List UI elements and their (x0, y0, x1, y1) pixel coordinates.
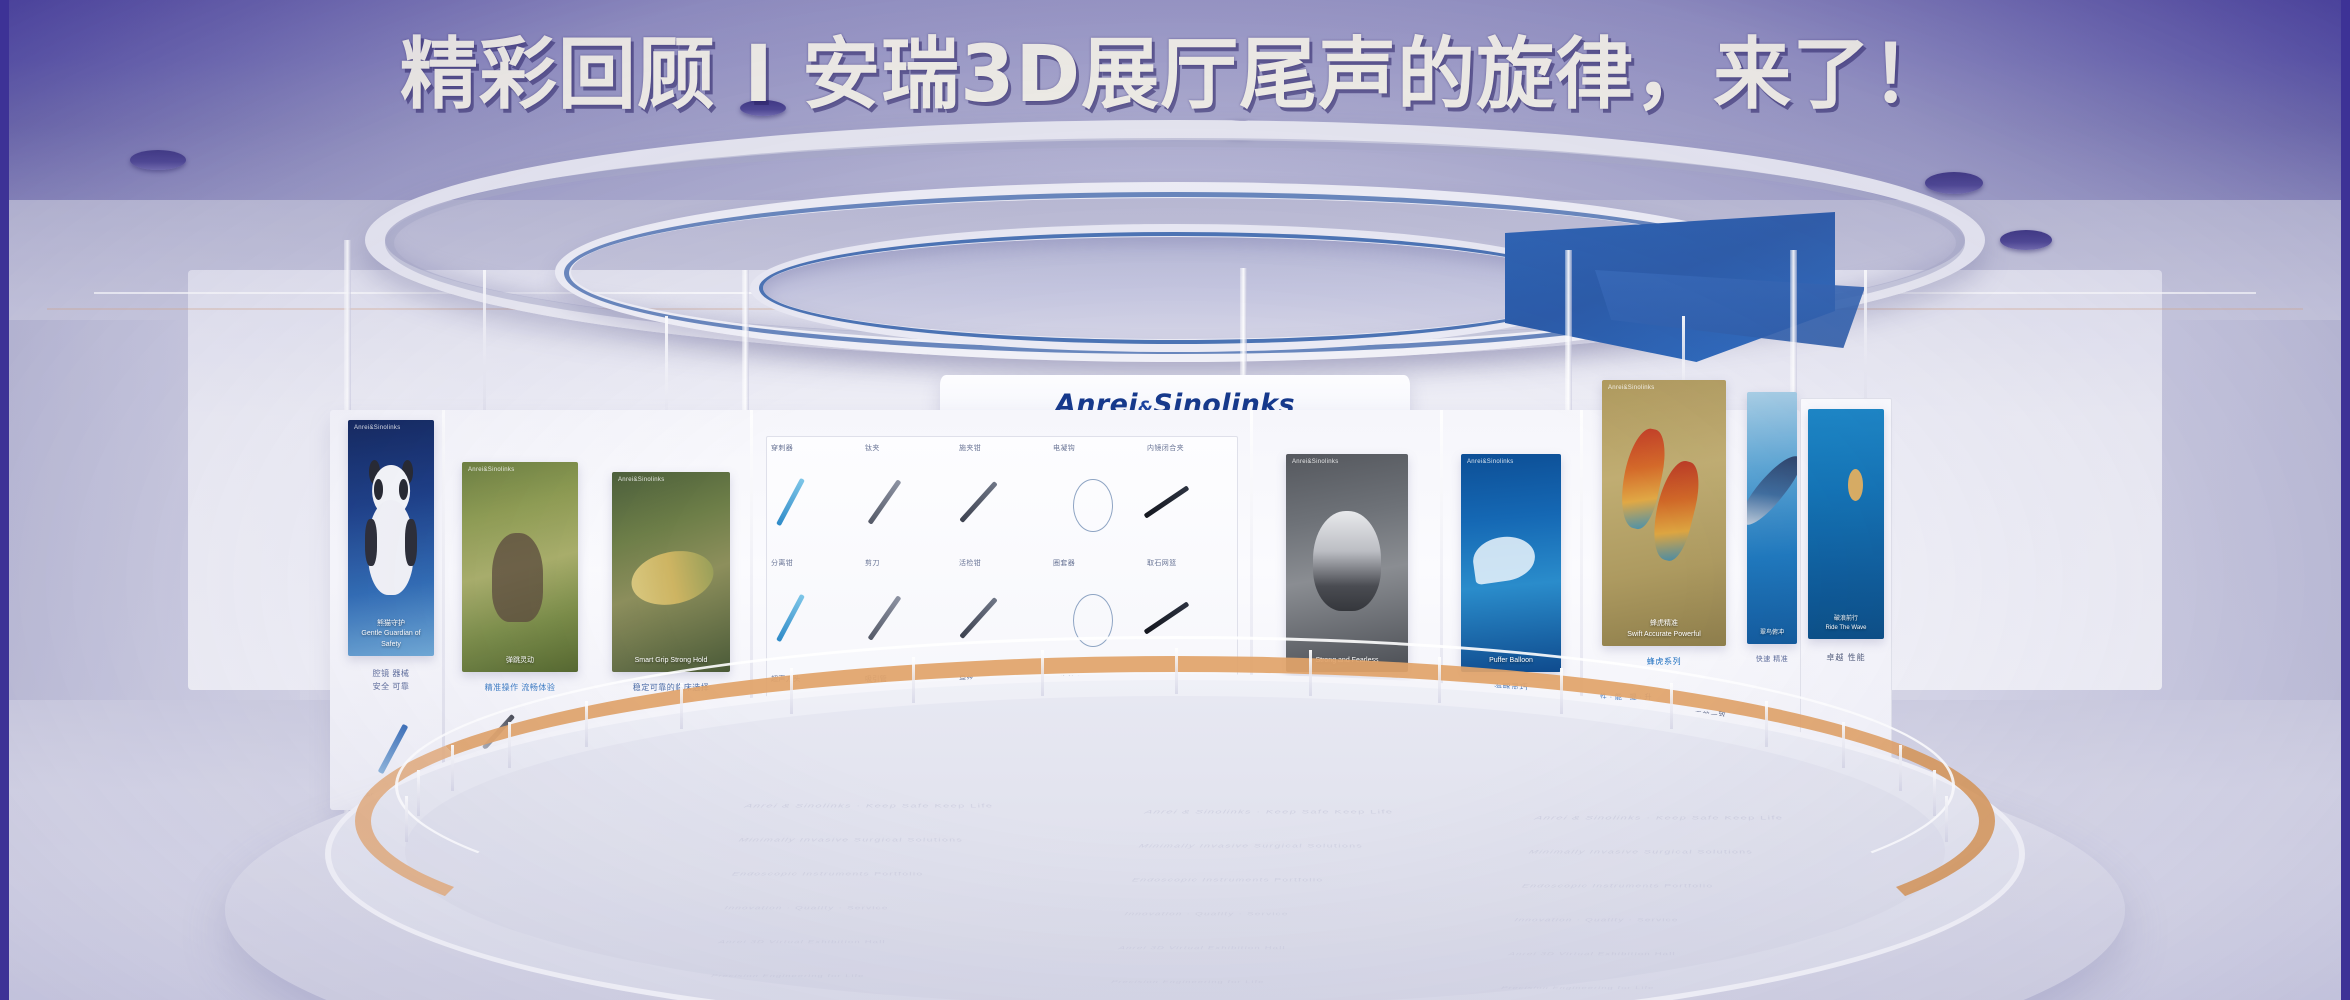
product-label: 活检钳 (959, 558, 1045, 568)
rail-post (790, 668, 793, 714)
rail-post (1842, 722, 1845, 768)
product-label: 取石网篮 (1147, 558, 1233, 568)
poster-logo: Anrei&Sinolinks (468, 467, 515, 473)
floor-text-line: Innovation · Quality · Service (724, 906, 890, 911)
poster-caption: 蜂虎精准 Swift Accurate Powerful (1608, 619, 1720, 640)
poster-panda[interactable]: Anrei&Sinolinks 熊猫守护 Gentle Guardian of … (348, 420, 434, 656)
hanging-rod (483, 270, 486, 420)
frame-border-left (0, 0, 9, 1000)
poster-logo: Anrei&Sinolinks (1608, 385, 1655, 391)
poster-logo: Anrei&Sinolinks (354, 425, 401, 431)
floor-text-line: Precision Engineering for Life (1110, 980, 1265, 985)
product-label: 穿刺器 (771, 443, 857, 453)
product-rod-shape (1143, 486, 1189, 519)
poster-lizard[interactable]: Anrei&Sinolinks Smart Grip Strong Hold (612, 472, 730, 672)
product-cell[interactable]: 内镜闭合夹 (1143, 437, 1237, 552)
product-label: 内镜闭合夹 (1147, 443, 1233, 453)
poster-caption: 熊猫守护 Gentle Guardian of Safety (354, 619, 428, 651)
rail-post (912, 657, 915, 703)
product-cell[interactable]: 穿刺器 (767, 437, 861, 552)
floor-text-line: Anrei & Sinolinks · Keep Safe Keep Life (1533, 815, 1785, 821)
poster-caption: 翠鸟俯冲 (1753, 629, 1791, 638)
floor-text-line: Anrei 3D Virtual Exhibition Hall (1508, 952, 1677, 957)
poster-caption-cn: 熊猫守护 (377, 620, 405, 627)
circular-platform: Anrei & Sinolinks · Keep Safe Keep LifeA… (225, 650, 2125, 1000)
product-loop-shape (1073, 479, 1112, 532)
rail-post (1041, 650, 1044, 696)
product-label: 电凝钩 (1053, 443, 1139, 453)
poster-caption-cn: 蜂虎精准 (1650, 620, 1678, 627)
floor-text-line: Anrei & Sinolinks · Keep Safe Keep Life (743, 803, 995, 809)
ceiling-light (2000, 230, 2052, 250)
product-rod-shape (867, 479, 901, 524)
rail-post (405, 796, 408, 842)
floor-text-line: Anrei & Sinolinks · Keep Safe Keep Life (1143, 809, 1395, 815)
product-rod-shape (959, 481, 998, 523)
poster-caption-cn: 翠鸟俯冲 (1760, 630, 1784, 636)
floor-text-line: Endoscopic Instruments Portfolio (1131, 877, 1324, 882)
poster-logo: Anrei&Sinolinks (618, 477, 665, 483)
rail-post (1309, 650, 1312, 696)
poster-logo: Anrei&Sinolinks (1467, 459, 1514, 465)
page-title: 精彩回顾 I 安瑞3D展厅尾声的旋律，来了！ (400, 36, 1950, 114)
product-cell[interactable]: 钛夹 (861, 437, 955, 552)
product-label: 施夹钳 (959, 443, 1045, 453)
product-rod-shape (867, 595, 901, 640)
rail-post (451, 745, 454, 791)
product-cell[interactable]: 电凝钩 (1049, 437, 1143, 552)
rail-post (1765, 701, 1768, 747)
poster-caption: 破浪前行 Ride The Wave (1814, 615, 1878, 633)
poster-dolphin[interactable]: Anrei&Sinolinks Puffer Balloon (1461, 454, 1561, 672)
floor-text-line: Minimally Invasive Surgical Solutions (738, 837, 965, 842)
rail-post (1175, 648, 1178, 694)
product-rod-shape (1143, 601, 1189, 634)
poster-logo: Anrei&Sinolinks (1292, 459, 1339, 465)
rail-post (1438, 657, 1441, 703)
product-label: 分离钳 (771, 558, 857, 568)
rail-post (680, 683, 683, 729)
product-rod-shape (959, 597, 998, 639)
poster-kingfisher[interactable]: 翠鸟俯冲 (1747, 392, 1797, 644)
exhibition-banner: Anrei&Sinolinks Keep Safe Keep Life Anre… (0, 0, 2350, 1000)
floor-text-line: Endoscopic Instruments Portfolio (1521, 883, 1714, 888)
rail-post (417, 770, 420, 816)
frame-border-right (2341, 0, 2350, 1000)
poster-wave[interactable]: 破浪前行 Ride The Wave (1808, 409, 1884, 639)
poster-kangaroo[interactable]: Anrei&Sinolinks 弹跳灵动 (462, 462, 578, 672)
floor-text-line: Endoscopic Instruments Portfolio (731, 871, 924, 876)
floor-text-line: Minimally Invasive Surgical Solutions (1138, 843, 1365, 848)
poster-caption-en: Swift Accurate Powerful (1627, 631, 1701, 638)
floor-text-line: Precision Engineering for Life (710, 974, 865, 979)
floor-text-line: Innovation · Quality · Service (1124, 912, 1290, 917)
poster-caption-en: Gentle Guardian of Safety (361, 630, 420, 648)
rail-post (1945, 796, 1948, 842)
rail-post (585, 701, 588, 747)
floor-text-line: Anrei 3D Virtual Exhibition Hall (718, 940, 887, 945)
product-label: 剪刀 (865, 558, 951, 568)
floor-text-line: Anrei 3D Virtual Exhibition Hall (1118, 946, 1287, 951)
rail-post (508, 722, 511, 768)
floor-text-line: Minimally Invasive Surgical Solutions (1528, 849, 1755, 854)
floor-text-line: Precision Engineering for Life (1500, 986, 1655, 991)
product-label: 钛夹 (865, 443, 951, 453)
poster-caption-en: Ride The Wave (1825, 625, 1866, 631)
poster-bee-eater[interactable]: Anrei&Sinolinks 蜂虎精准 Swift Accurate Powe… (1602, 380, 1726, 646)
ceiling-light (130, 150, 186, 170)
product-cell[interactable]: 施夹钳 (955, 437, 1049, 552)
poster-caption-cn: 破浪前行 (1834, 616, 1858, 622)
ring-inner-blue-line (759, 232, 1591, 344)
product-rod-shape (776, 593, 805, 641)
product-rod-shape (776, 478, 805, 526)
rail-post (1899, 745, 1902, 791)
title-bar: 精彩回顾 I 安瑞3D展厅尾声的旋律，来了！ (0, 0, 2350, 150)
product-label: 圈套器 (1053, 558, 1139, 568)
floor-text-line: Innovation · Quality · Service (1514, 918, 1680, 923)
rail-post (1560, 668, 1563, 714)
rail-post (1933, 770, 1936, 816)
rail-post (1670, 683, 1673, 729)
